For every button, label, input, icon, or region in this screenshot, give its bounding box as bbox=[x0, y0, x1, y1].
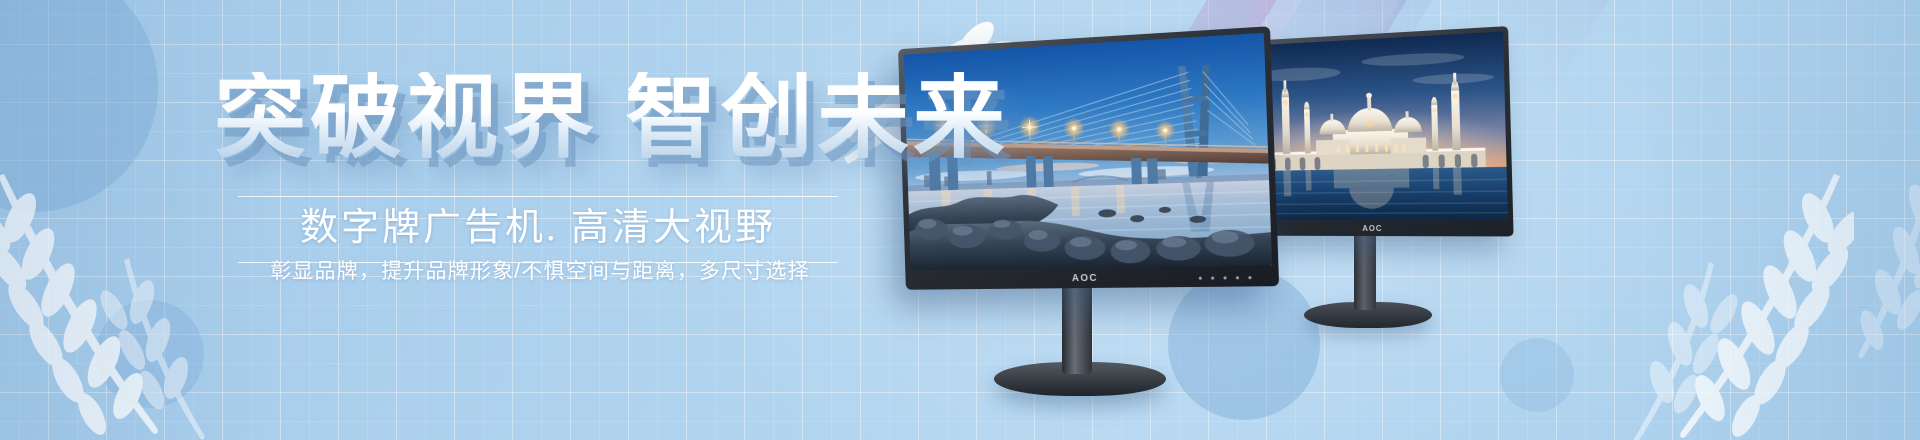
banner-copy: 突破视界 智创未来 数字牌广告机. 高清大视野 彰显品牌，提升品牌形象/不惧空间… bbox=[0, 0, 900, 440]
control-dot[interactable] bbox=[1199, 277, 1202, 280]
monitor-back-stand bbox=[1354, 230, 1376, 310]
subtitle: 数字牌广告机. 高清大视野 bbox=[238, 206, 838, 251]
monitor-front-stand bbox=[1062, 282, 1092, 374]
monitor-back-brand-logo: AOC bbox=[1362, 224, 1382, 233]
fern-frond-icon bbox=[1836, 120, 1920, 370]
control-dot[interactable] bbox=[1223, 276, 1226, 279]
subtitle-rule-top bbox=[238, 196, 838, 197]
product-monitors: AOC bbox=[880, 0, 1540, 440]
promo-banner: AOC bbox=[0, 0, 1920, 440]
control-dot[interactable] bbox=[1236, 276, 1239, 279]
control-dot[interactable] bbox=[1211, 277, 1214, 280]
monitor-front-control-dots[interactable] bbox=[1199, 276, 1252, 280]
fern-frond-icon bbox=[1604, 172, 1854, 440]
monitor-front-brand-logo: AOC bbox=[1072, 273, 1098, 284]
headline: 突破视界 智创未来 bbox=[214, 72, 1009, 164]
tagline: 彰显品牌，提升品牌形象/不惧空间与距离，多尺寸选择 bbox=[232, 258, 848, 285]
control-dot[interactable] bbox=[1248, 276, 1251, 279]
subtitle-block: 数字牌广告机. 高清大视野 bbox=[238, 196, 838, 263]
